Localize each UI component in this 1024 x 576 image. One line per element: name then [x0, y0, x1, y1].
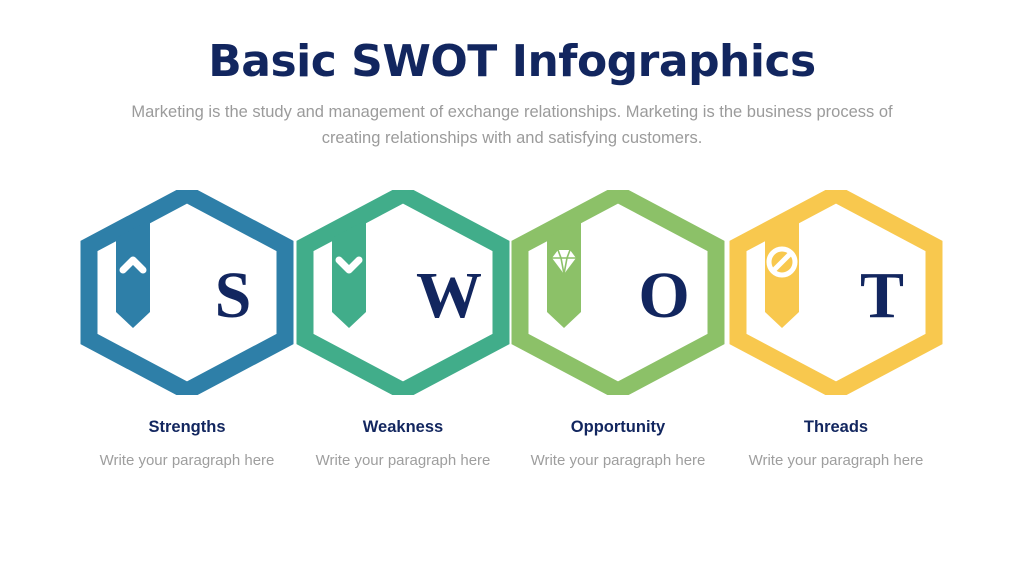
card-description: Write your paragraph here	[510, 451, 726, 472]
swot-letter: S	[185, 248, 281, 344]
hexagon-badge-strengths: S	[79, 190, 295, 395]
swot-letter: T	[834, 248, 930, 344]
card-description: Write your paragraph here	[728, 451, 944, 472]
swot-card-weakness[interactable]: W Weakness Write your paragraph here	[295, 190, 511, 510]
hexagon-badge-threads: T	[728, 190, 944, 395]
swot-letter: O	[616, 248, 712, 344]
card-text-block: Strengths Write your paragraph here	[79, 418, 295, 471]
page-subtitle: Marketing is the study and management of…	[117, 99, 907, 151]
swot-cards-row: S Strengths Write your paragraph here W …	[0, 190, 1024, 510]
swot-card-opportunity[interactable]: O Opportunity Write your paragraph here	[510, 190, 726, 510]
hexagon-badge-weakness: W	[295, 190, 511, 395]
card-description: Write your paragraph here	[79, 451, 295, 472]
swot-infographic-slide: Basic SWOT Infographics Marketing is the…	[0, 0, 1024, 576]
swot-card-threads[interactable]: T Threads Write your paragraph here	[728, 190, 944, 510]
ribbon-banner	[332, 220, 366, 328]
card-text-block: Opportunity Write your paragraph here	[510, 418, 726, 471]
ribbon-banner	[116, 220, 150, 328]
swot-letter: W	[401, 248, 497, 344]
page-title: Basic SWOT Infographics	[0, 38, 1024, 86]
card-label: Strengths	[79, 418, 295, 438]
card-description: Write your paragraph here	[295, 451, 511, 472]
card-label: Opportunity	[510, 418, 726, 438]
swot-card-strengths[interactable]: S Strengths Write your paragraph here	[79, 190, 295, 510]
card-text-block: Threads Write your paragraph here	[728, 418, 944, 471]
header: Basic SWOT Infographics Marketing is the…	[0, 38, 1024, 151]
card-label: Threads	[728, 418, 944, 438]
card-label: Weakness	[295, 418, 511, 438]
card-text-block: Weakness Write your paragraph here	[295, 418, 511, 471]
hexagon-badge-opportunity: O	[510, 190, 726, 395]
